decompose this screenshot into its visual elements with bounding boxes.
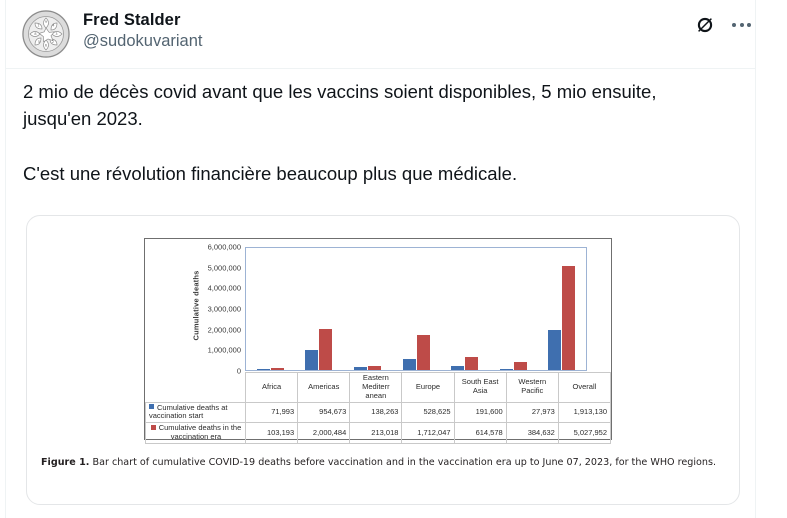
bar	[305, 350, 318, 370]
left-column-rule	[5, 0, 6, 518]
table-column-header: Americas	[298, 373, 350, 403]
bar	[548, 330, 561, 370]
display-name[interactable]: Fred Stalder	[83, 11, 202, 30]
sudoku-mandala-avatar-icon: 9 4 1 3 8 2 5 6	[22, 10, 70, 58]
table-column-header: Africa	[246, 373, 298, 403]
table-cell: 213,018	[350, 423, 402, 444]
table-row: Cumulative deaths at vaccination start71…	[146, 402, 611, 423]
legend-swatch-icon	[151, 425, 156, 430]
author-name-block: Fred Stalder @sudokuvariant	[83, 10, 202, 51]
svg-text:4: 4	[52, 24, 54, 28]
legend-label: Cumulative deaths in the vaccination era	[159, 423, 242, 441]
tweet-body-text: 2 mio de décès covid avant que les vacci…	[23, 78, 723, 187]
svg-text:1: 1	[37, 24, 39, 28]
table-column-header: Eastern Mediterr anean	[350, 373, 402, 403]
table-cell: 191,600	[454, 402, 506, 423]
table-cell: 2,000,484	[298, 423, 350, 444]
table-cell: 27,973	[506, 402, 558, 423]
table-cell: 954,673	[298, 402, 350, 423]
svg-text:5: 5	[38, 40, 40, 44]
bar	[319, 329, 332, 370]
bar	[417, 335, 430, 370]
table-column-header: Europe	[402, 373, 454, 403]
svg-text:8: 8	[34, 32, 36, 36]
table-cell: 71,993	[246, 402, 298, 423]
bar-group	[489, 248, 538, 370]
more-options-icon[interactable]	[732, 23, 751, 27]
avatar[interactable]: 9 4 1 3 8 2 5 6	[22, 10, 70, 58]
bar-chart: Cumulative deaths 6,000,0005,000,0004,00…	[145, 239, 611, 439]
table-column-header: Overall	[558, 373, 610, 403]
bar-group	[440, 248, 489, 370]
right-column-rule	[755, 0, 756, 518]
bar	[368, 366, 381, 370]
table-row: Cumulative deaths in the vaccination era…	[146, 423, 611, 444]
chart-data-table: AfricaAmericasEastern Mediterr aneanEuro…	[145, 372, 611, 444]
tweet-header: 9 4 1 3 8 2 5 6 Fred Stalder @sudokuvari…	[22, 10, 742, 66]
handle[interactable]: @sudokuvariant	[83, 32, 202, 51]
header-divider	[6, 68, 755, 69]
bar-group	[537, 248, 586, 370]
figure-caption-label: Figure 1.	[41, 457, 89, 468]
legend-entry: Cumulative deaths at vaccination start	[146, 402, 246, 423]
svg-text:6: 6	[45, 44, 47, 48]
bar	[451, 366, 464, 370]
figure-caption: Figure 1. Bar chart of cumulative COVID-…	[41, 456, 727, 470]
bar	[354, 367, 367, 370]
table-cell: 528,625	[402, 402, 454, 423]
y-axis-tick-label: 1,000,000	[208, 346, 241, 355]
legend-entry: Cumulative deaths in the vaccination era	[146, 423, 246, 444]
y-axis-tick-label: 6,000,000	[208, 243, 241, 252]
bar	[465, 357, 478, 370]
y-axis-ticks: 6,000,0005,000,0004,000,0003,000,0002,00…	[173, 243, 241, 371]
table-cell: 5,027,952	[558, 423, 610, 444]
bar	[403, 359, 416, 370]
media-card[interactable]: Cumulative deaths 6,000,0005,000,0004,00…	[26, 215, 740, 505]
tweet-screenshot: 9 4 1 3 8 2 5 6 Fred Stalder @sudokuvari…	[0, 0, 787, 518]
bar-group	[246, 248, 295, 370]
grok-slashed-circle-icon[interactable]	[694, 14, 716, 36]
svg-text:2: 2	[52, 40, 54, 44]
table-corner-cell	[146, 373, 246, 403]
figure-image: Cumulative deaths 6,000,0005,000,0004,00…	[144, 238, 612, 440]
y-axis-tick-label: 4,000,000	[208, 284, 241, 293]
legend-swatch-icon	[149, 404, 154, 409]
bar	[562, 266, 575, 370]
plot-area	[245, 247, 587, 371]
table-column-header: Western Pacific	[506, 373, 558, 403]
svg-text:3: 3	[55, 32, 57, 36]
bar-group	[392, 248, 441, 370]
bar	[257, 369, 270, 370]
table-cell: 138,263	[350, 402, 402, 423]
y-axis-tick-label: 2,000,000	[208, 325, 241, 334]
figure-caption-text: Bar chart of cumulative COVID-19 deaths …	[89, 457, 716, 468]
y-axis-tick-label: 5,000,000	[208, 263, 241, 272]
bar	[271, 368, 284, 370]
table-row: AfricaAmericasEastern Mediterr aneanEuro…	[146, 373, 611, 403]
table-cell: 103,193	[246, 423, 298, 444]
bar-group	[343, 248, 392, 370]
bar	[500, 369, 513, 370]
table-cell: 614,578	[454, 423, 506, 444]
table-column-header: South East Asia	[454, 373, 506, 403]
table-cell: 1,913,130	[558, 402, 610, 423]
header-actions	[694, 14, 751, 36]
legend-label: Cumulative deaths at vaccination start	[149, 403, 227, 421]
bar	[514, 362, 527, 370]
bar-group	[295, 248, 344, 370]
table-cell: 1,712,047	[402, 423, 454, 444]
bar-groups	[246, 248, 586, 370]
y-axis-tick-label: 3,000,000	[208, 305, 241, 314]
svg-text:9: 9	[45, 20, 47, 24]
table-cell: 384,632	[506, 423, 558, 444]
